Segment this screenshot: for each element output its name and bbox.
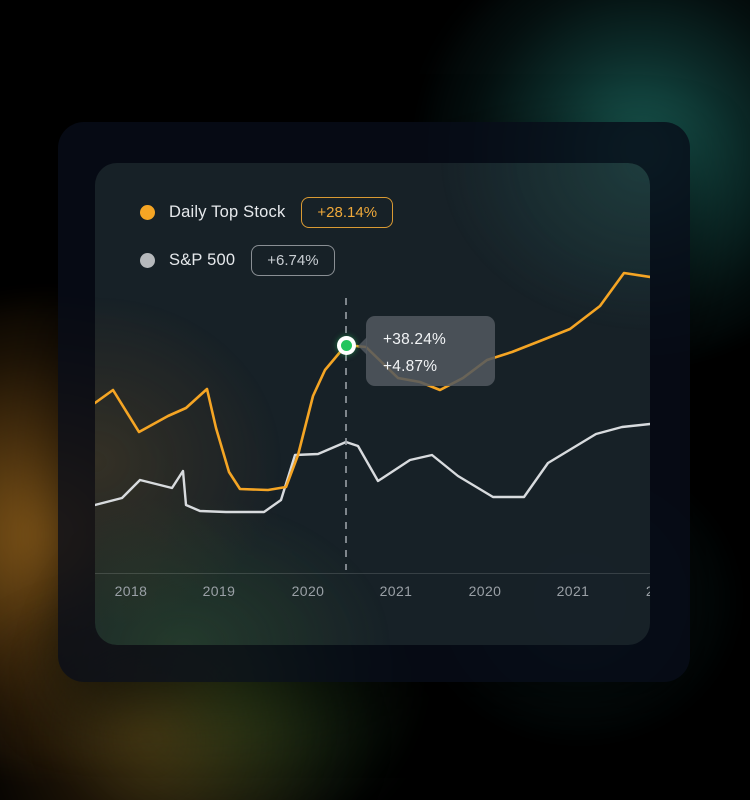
legend-label-sp500: S&P 500 [169, 251, 235, 270]
x-axis-tick-0: 2018 [115, 583, 148, 599]
legend-badge-daily-top-stock[interactable]: +28.14% [301, 197, 393, 228]
legend-badge-sp500[interactable]: +6.74% [251, 245, 334, 276]
chart-tooltip-notch-icon [358, 337, 367, 355]
x-axis-tick-labels: 2018201920202021202020212 [95, 583, 650, 613]
chart-card: Daily Top Stock +28.14% S&P 500 +6.74% +… [95, 163, 650, 645]
x-axis-tick-2: 2020 [292, 583, 325, 599]
legend-label-daily-top-stock: Daily Top Stock [169, 203, 285, 222]
x-axis-tick-5: 2021 [557, 583, 590, 599]
x-axis-tick-4: 2020 [469, 583, 502, 599]
x-axis-tick-1: 2019 [203, 583, 236, 599]
tooltip-value-primary: +38.24% [383, 331, 446, 349]
x-axis-tick-6: 2 [646, 583, 650, 599]
chart-tooltip: +38.24% +4.87% [366, 316, 495, 386]
legend: Daily Top Stock +28.14% S&P 500 +6.74% [140, 195, 393, 277]
series-line-sp500 [95, 424, 650, 512]
legend-dot-orange-icon [140, 205, 155, 220]
data-point-marker[interactable] [337, 336, 356, 355]
x-axis-tick-3: 2021 [380, 583, 413, 599]
data-point-marker-core [341, 340, 352, 351]
legend-item-sp500[interactable]: S&P 500 +6.74% [140, 243, 393, 277]
legend-item-daily-top-stock[interactable]: Daily Top Stock +28.14% [140, 195, 393, 229]
page-background: Daily Top Stock +28.14% S&P 500 +6.74% +… [0, 0, 750, 800]
legend-dot-gray-icon [140, 253, 155, 268]
x-axis-baseline [95, 573, 650, 574]
tooltip-value-secondary: +4.87% [383, 358, 437, 376]
